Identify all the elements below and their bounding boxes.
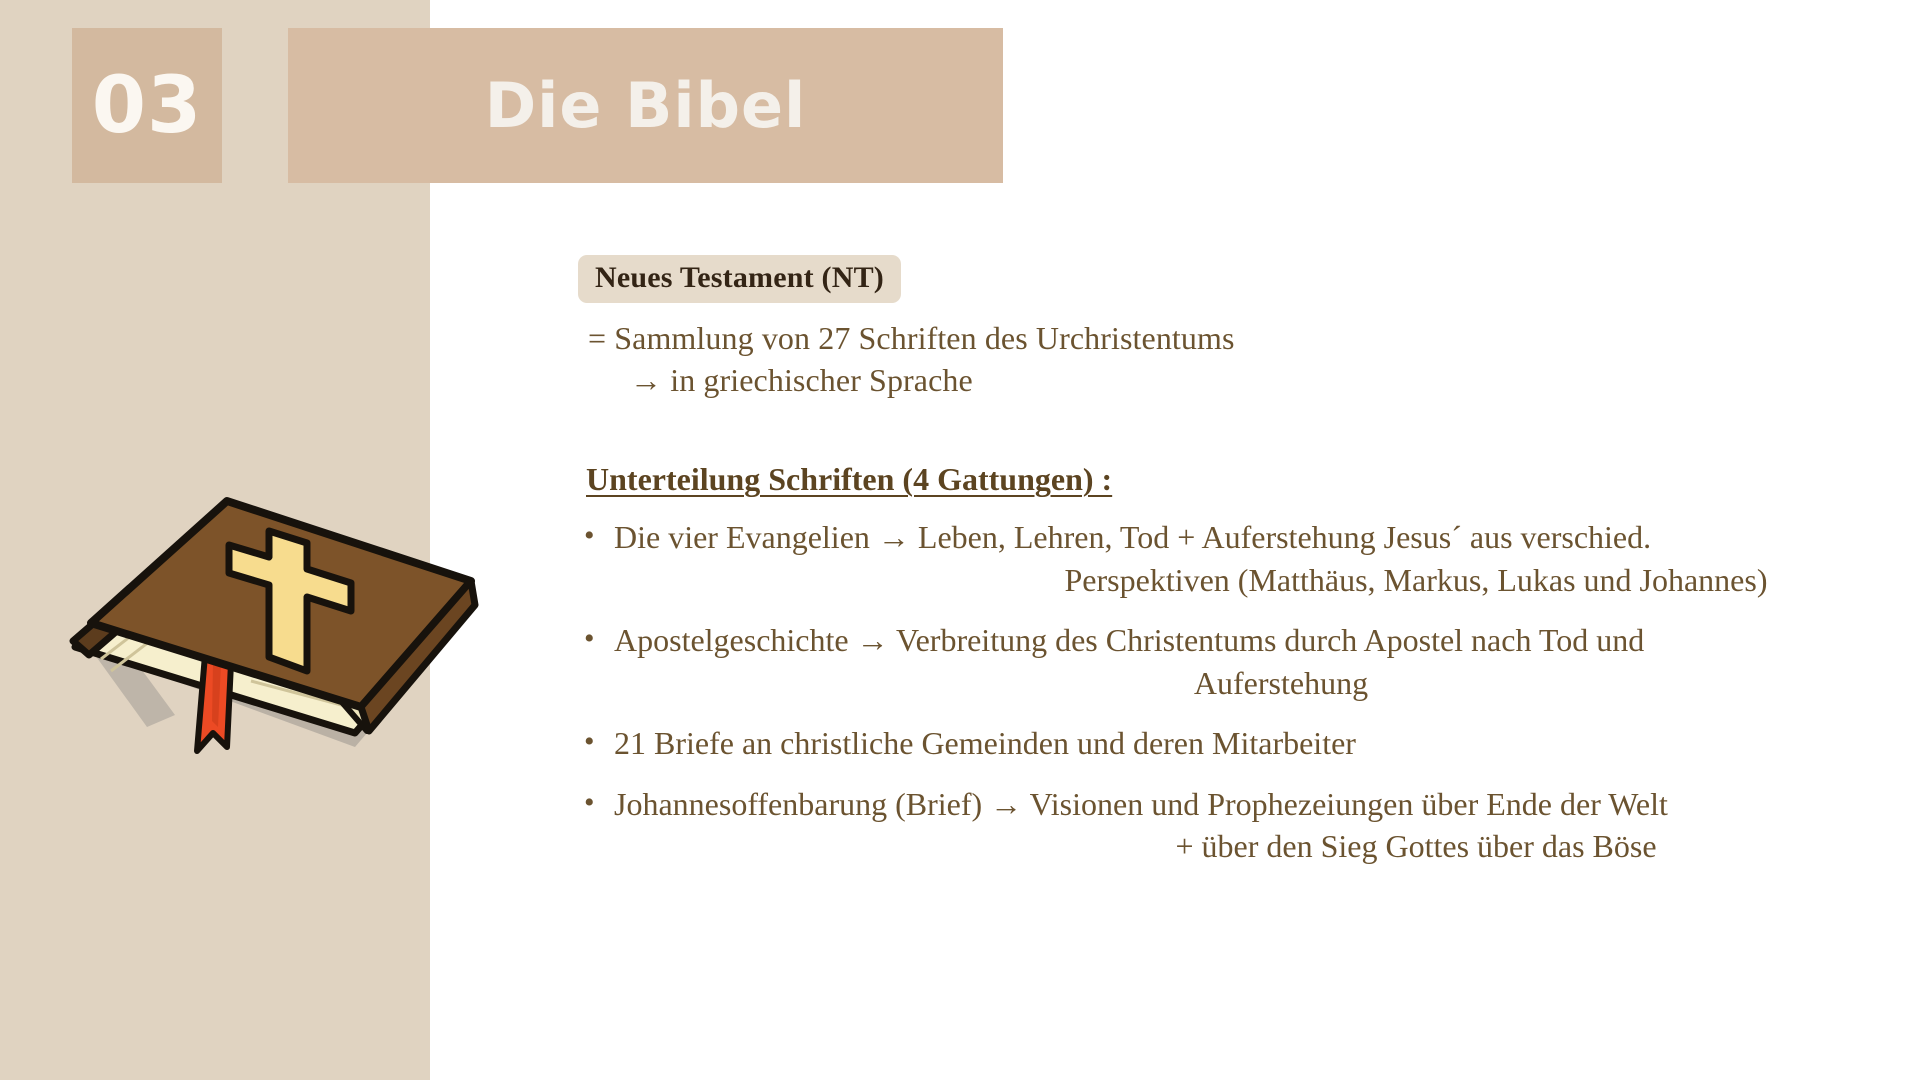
bullet-marker-icon: • [578, 619, 614, 660]
bible-illustration [55, 355, 515, 775]
list-item-continuation: Perspektiven (Matthäus, Markus, Lukas un… [614, 559, 1888, 602]
intro-block: = Sammlung von 27 Schriften des Urchrist… [578, 317, 1888, 401]
list-item-text: Die vier Evangelien → Leben, Lehren, Tod… [614, 516, 1888, 601]
slide-number-box: 03 [72, 28, 222, 183]
list-item-main: Die vier Evangelien → Leben, Lehren, Tod… [614, 519, 1651, 555]
section-heading: Unterteilung Schriften (4 Gattungen) : [578, 461, 1112, 498]
ribbon-bookmark [197, 655, 231, 751]
list-item-main: 21 Briefe an christliche Gemeinden und d… [614, 725, 1356, 761]
bullet-list: • Die vier Evangelien → Leben, Lehren, T… [578, 516, 1888, 868]
list-item-continuation: Auferstehung [614, 662, 1888, 705]
bullet-marker-icon: • [578, 516, 614, 557]
list-item-continuation: + über den Sieg Gottes über das Böse [614, 825, 1888, 868]
slide-content: Neues Testament (NT) = Sammlung von 27 S… [578, 255, 1888, 868]
list-item-main: Apostelgeschichte → Verbreitung des Chri… [614, 622, 1644, 658]
list-item: • Apostelgeschichte → Verbreitung des Ch… [578, 619, 1888, 704]
page-title: Die Bibel [485, 75, 807, 137]
list-item: • 21 Briefe an christliche Gemeinden und… [578, 722, 1888, 765]
bullet-marker-icon: • [578, 722, 614, 763]
slide-title-bar: Die Bibel [288, 28, 1003, 183]
list-item: • Johannesoffenbarung (Brief) → Visionen… [578, 783, 1888, 868]
slide-number: 03 [92, 67, 203, 145]
list-item-text: Johannesoffenbarung (Brief) → Visionen u… [614, 783, 1888, 868]
intro-line-2: → in griechischer Sprache [588, 359, 1888, 401]
intro-line-1: = Sammlung von 27 Schriften des Urchrist… [588, 317, 1888, 359]
list-item-main: Johannesoffenbarung (Brief) → Visionen u… [614, 786, 1668, 822]
list-item-text: 21 Briefe an christliche Gemeinden und d… [614, 722, 1888, 765]
status-badge: Neues Testament (NT) [578, 255, 901, 303]
bullet-marker-icon: • [578, 783, 614, 824]
list-item-text: Apostelgeschichte → Verbreitung des Chri… [614, 619, 1888, 704]
list-item: • Die vier Evangelien → Leben, Lehren, T… [578, 516, 1888, 601]
